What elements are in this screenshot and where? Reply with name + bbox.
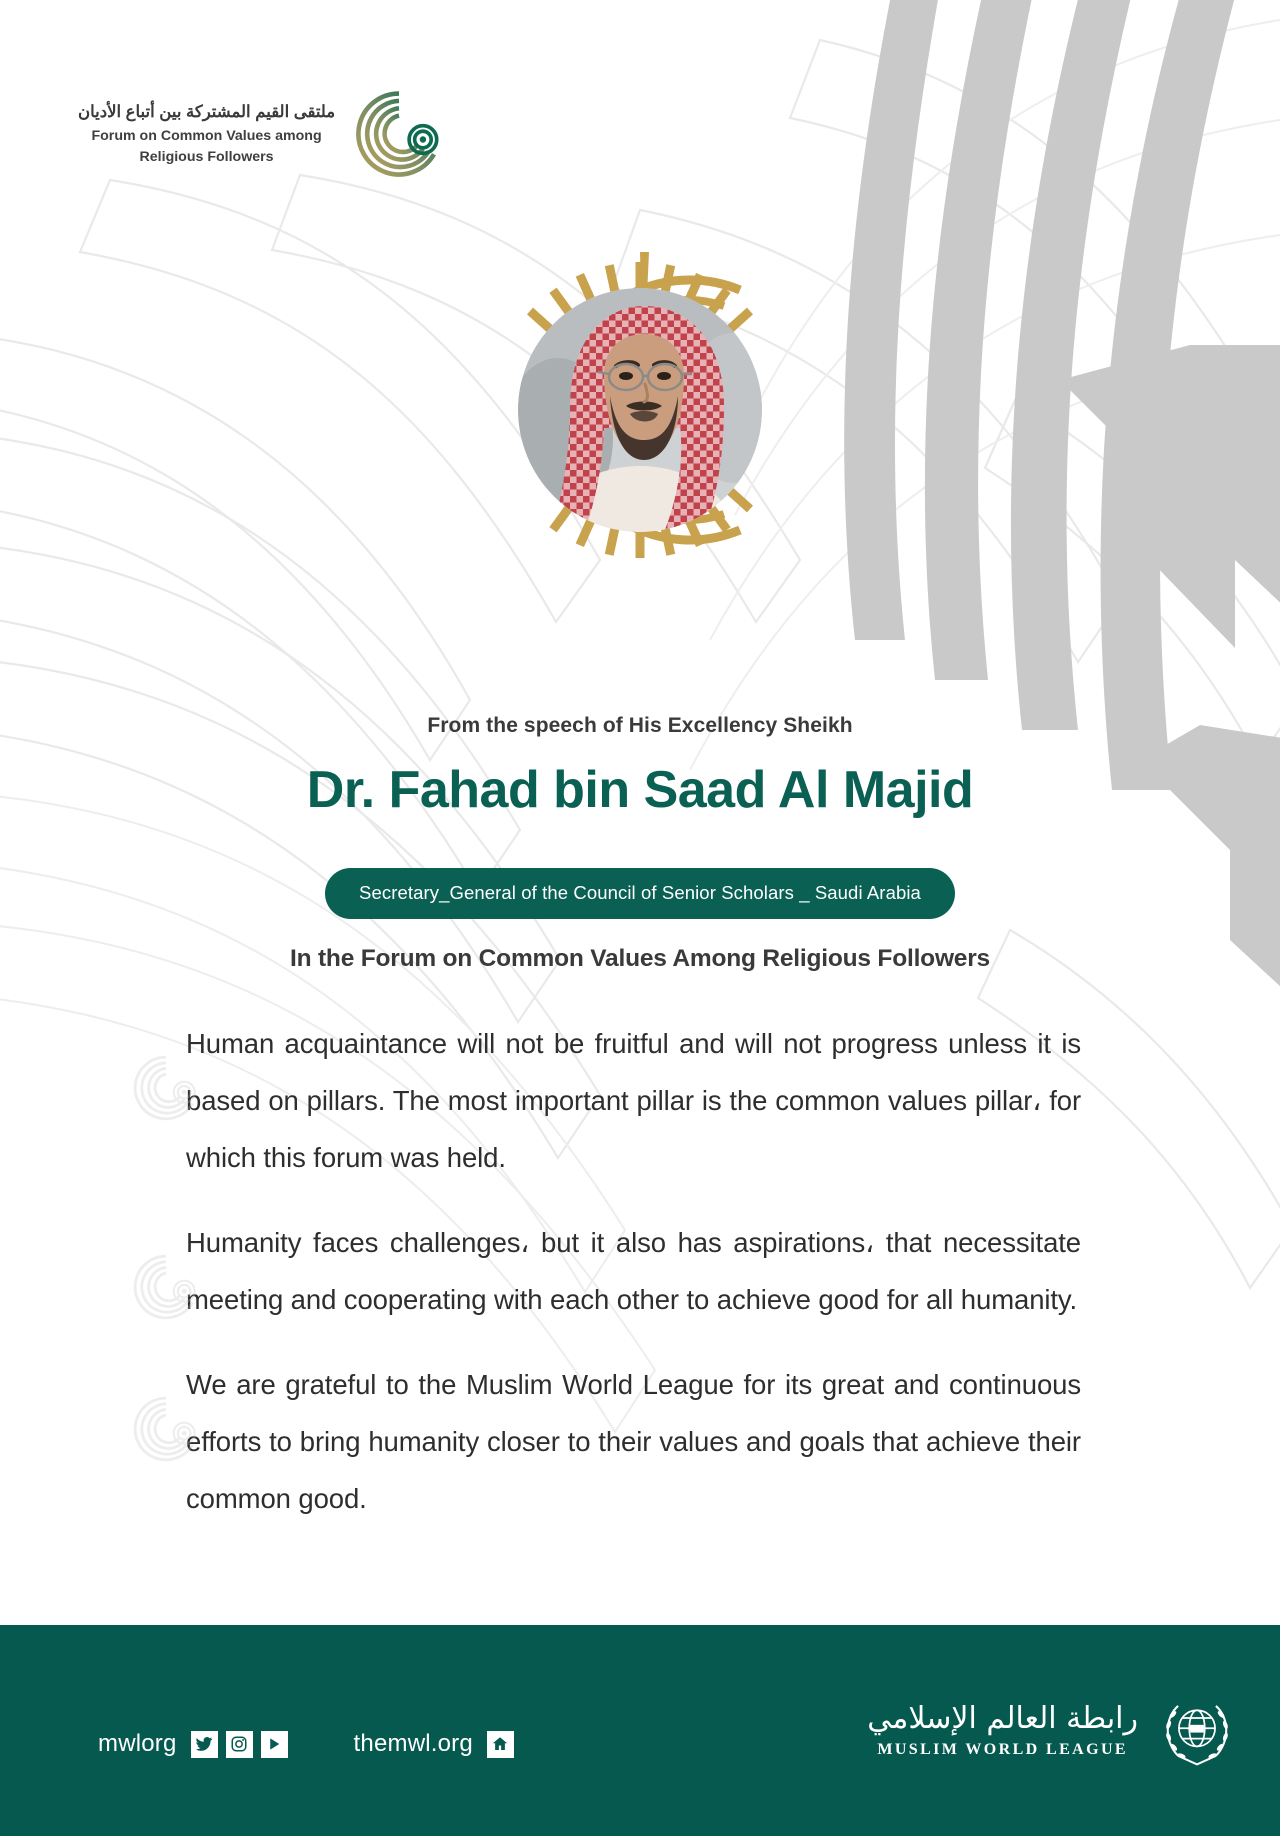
mwl-name-english: MUSLIM WORLD LEAGUE: [867, 1741, 1138, 1759]
youtube-icon[interactable]: [261, 1731, 288, 1758]
quote-text-3: We are grateful to the Muslim World Leag…: [186, 1369, 1081, 1514]
mwl-name-arabic: رابطة العالم الإسلامي: [867, 1702, 1138, 1735]
website-label: themwl.org: [354, 1730, 473, 1758]
forum-name-arabic: ملتقى القيم المشتركة بين أتباع الأديان: [78, 101, 335, 123]
footer-bar: mwlorg themwl.org رابطة العالم الإسلامي …: [0, 1625, 1280, 1836]
forum-spiral-logo-icon: [353, 88, 445, 180]
social-handle-label: mwlorg: [98, 1730, 177, 1758]
quote-text-2: Humanity faces challenges، but it also h…: [186, 1227, 1081, 1315]
quote-paragraph-3: We are grateful to the Muslim World Leag…: [186, 1356, 1081, 1527]
twitter-icon[interactable]: [191, 1731, 218, 1758]
speaker-portrait: [468, 238, 812, 582]
event-subtitle: In the Forum on Common Values Among Reli…: [0, 945, 1280, 973]
status-badge: Secretary_General of the Council of Seni…: [325, 868, 955, 919]
home-icon[interactable]: [487, 1731, 514, 1758]
forum-logo: ملتقى القيم المشتركة بين أتباع الأديان F…: [78, 88, 445, 180]
quote-block: Human acquaintance will not be fruitful …: [186, 1015, 1081, 1527]
speech-intro-label: From the speech of His Excellency Sheikh: [0, 714, 1280, 738]
avatar: [518, 288, 762, 532]
quote-paragraph-2: Humanity faces challenges، but it also h…: [186, 1214, 1081, 1328]
quote-paragraph-1: Human acquaintance will not be fruitful …: [186, 1015, 1081, 1186]
footer-social-group: mwlorg themwl.org: [98, 1730, 514, 1758]
mwl-logo: رابطة العالم الإسلامي MUSLIM WORLD LEAGU…: [867, 1687, 1240, 1773]
forum-name-english-line1: Forum on Common Values among: [78, 127, 335, 145]
page-title: Dr. Fahad bin Saad Al Majid: [0, 760, 1280, 820]
mwl-logo-text: رابطة العالم الإسلامي MUSLIM WORLD LEAGU…: [867, 1702, 1138, 1759]
globe-wreath-emblem-icon: [1154, 1687, 1240, 1773]
forum-logo-text: ملتقى القيم المشتركة بين أتباع الأديان F…: [78, 101, 335, 166]
instagram-icon[interactable]: [226, 1731, 253, 1758]
quote-text-1: Human acquaintance will not be fruitful …: [186, 1028, 1081, 1173]
forum-name-english-line2: Religious Followers: [78, 148, 335, 166]
